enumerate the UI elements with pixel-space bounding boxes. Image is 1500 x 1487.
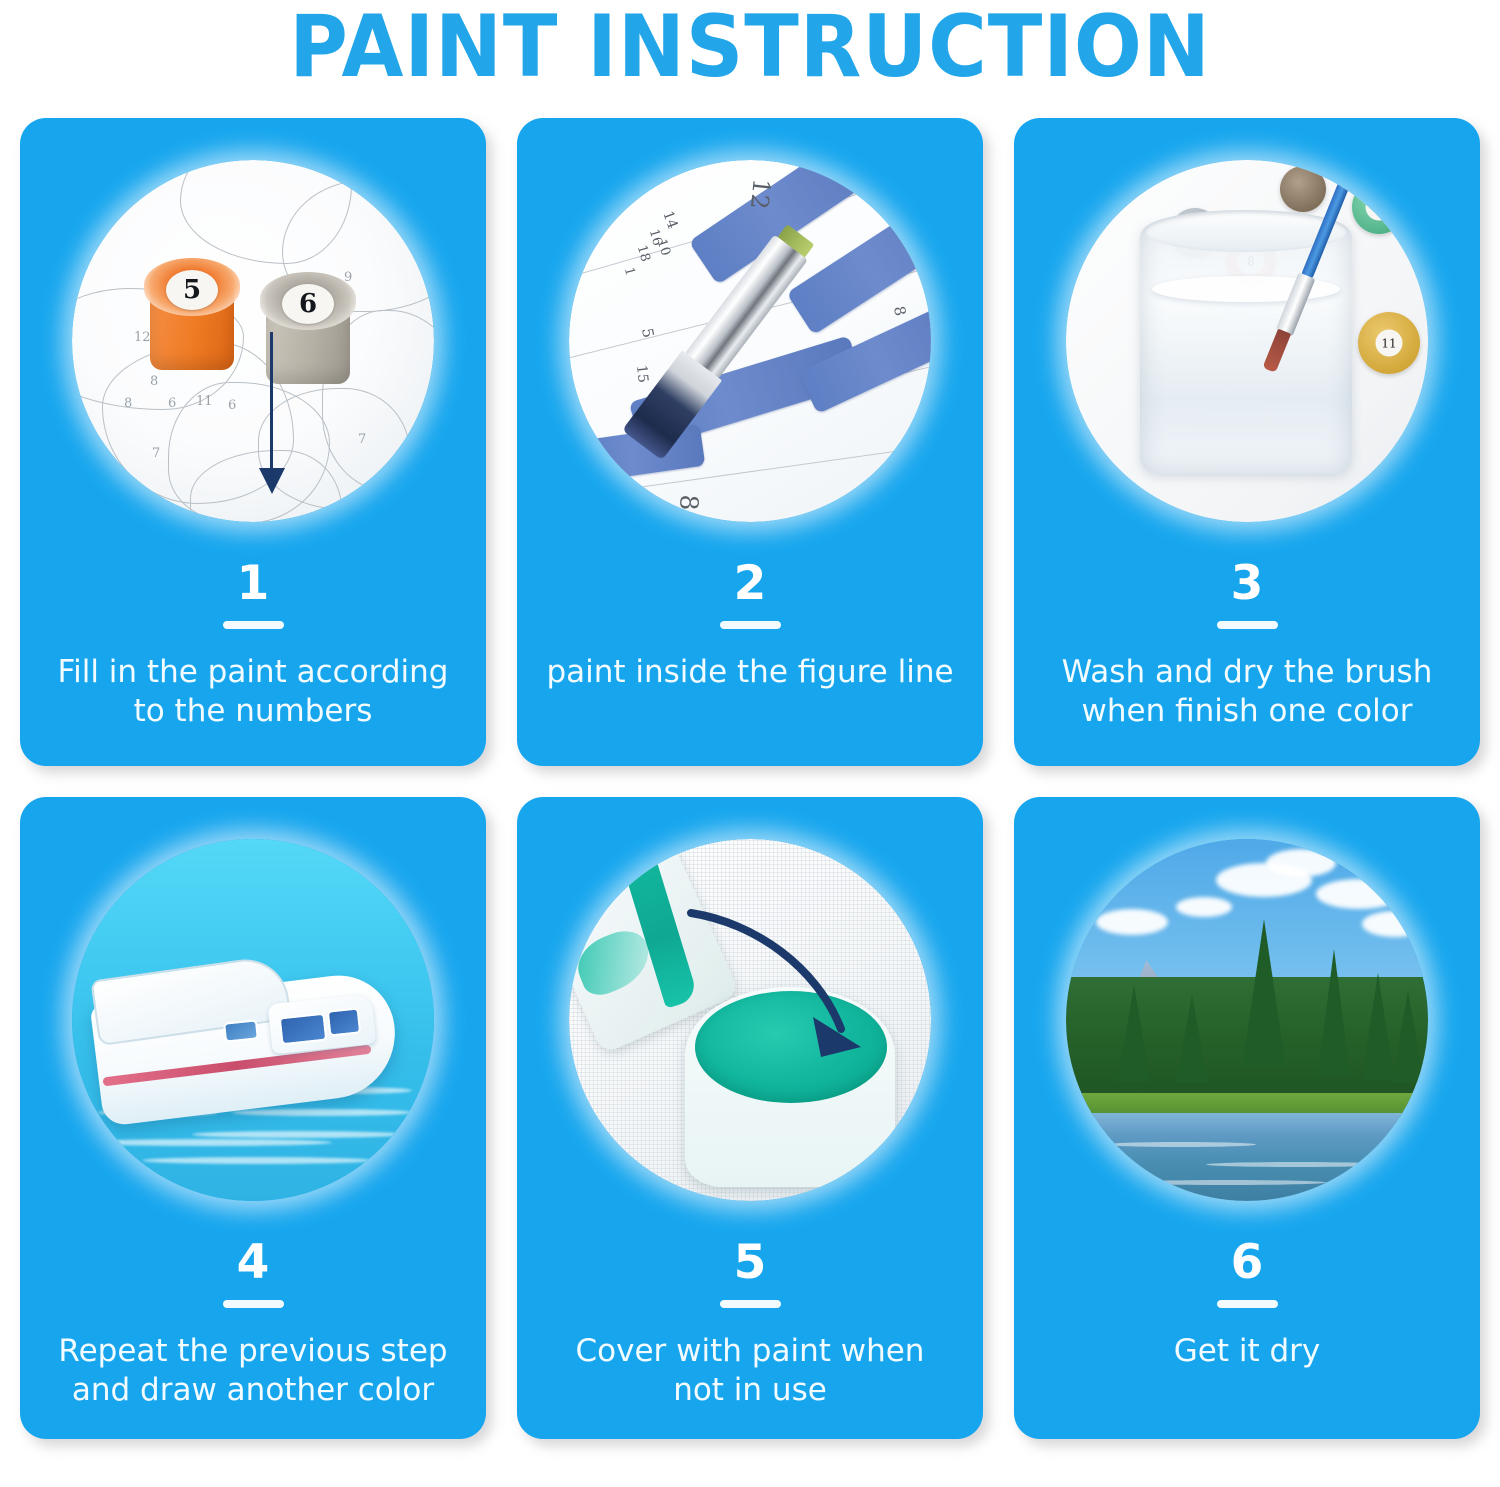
step-caption: paint inside the figure line: [530, 653, 969, 692]
step-2-photo: 12 14 16 18 10 5 8 15 1 8: [569, 160, 931, 522]
canvas-number: 7: [358, 432, 366, 447]
canvas-number: 15: [633, 364, 651, 383]
step-number: 3: [1231, 560, 1264, 607]
cloud: [1176, 897, 1232, 917]
water-reflection: [1126, 1180, 1326, 1185]
paint-pots-image: 12 8 8 8 11 6 6 7 9 7 5 6: [72, 160, 434, 522]
paint-pot: [1352, 180, 1406, 234]
step-caption: Fill in the paint according to the numbe…: [42, 653, 465, 731]
canvas-number: 8: [124, 396, 132, 411]
step-5-photo: [569, 839, 931, 1201]
step-caption: Get it dry: [1158, 1332, 1337, 1371]
canvas-number: 8: [150, 374, 158, 389]
mountain-landscape-image: [1066, 839, 1428, 1201]
step-number: 4: [237, 1239, 270, 1286]
step-3-photo: 7 8 11: [1066, 160, 1428, 522]
rinsing-brush-image: 7 8 11: [1066, 160, 1428, 522]
pine-tree: [1362, 973, 1394, 1079]
step-divider: [720, 621, 781, 629]
boat-window: [223, 1019, 259, 1042]
pine-tree: [1318, 949, 1350, 1075]
pot-number-label: 6: [282, 284, 334, 324]
step-card-1[interactable]: 12 8 8 8 11 6 6 7 9 7 5 6: [20, 118, 486, 766]
step-divider: [223, 621, 284, 629]
paint-pot-5: 5: [144, 258, 240, 370]
pine-tree: [1118, 985, 1150, 1081]
speedboat-painting-image: [72, 839, 434, 1201]
step-card-3[interactable]: 7 8 11 3 Wa: [1014, 118, 1480, 766]
pot-number-label: 5: [166, 270, 218, 310]
step-card-4[interactable]: 4 Repeat the previous step and draw anot…: [20, 797, 486, 1439]
paint-pot-6: 6: [260, 272, 356, 384]
water-reflection: [1106, 1142, 1256, 1147]
step-number: 5: [734, 1239, 767, 1286]
step-card-2[interactable]: 12 14 16 18 10 5 8 15 1 8 2 paint inside…: [517, 118, 983, 766]
down-arrow-icon: [270, 332, 273, 472]
step-card-6[interactable]: 6 Get it dry: [1014, 797, 1480, 1439]
step-6-photo: [1066, 839, 1428, 1201]
lake: [1066, 1113, 1428, 1201]
cloud: [1362, 911, 1428, 937]
step-caption: Wash and dry the brush when finish one c…: [1046, 653, 1449, 731]
pine-tree: [1242, 919, 1286, 1069]
canvas-number: 11: [196, 394, 213, 409]
cloud: [1096, 909, 1168, 935]
water-ripple: [82, 1139, 332, 1146]
step-4-photo: [72, 839, 434, 1201]
step-caption: Repeat the previous step and draw anothe…: [42, 1332, 463, 1410]
paint-pot: 11: [1358, 312, 1420, 374]
pine-tree: [1176, 995, 1208, 1083]
step-number: 2: [734, 560, 767, 607]
canvas-number: 8: [674, 494, 704, 511]
pot-number-label: [1366, 194, 1393, 221]
step-1-photo: 12 8 8 8 11 6 6 7 9 7 5 6: [72, 160, 434, 522]
pine-tree: [1392, 991, 1424, 1083]
water-ripple: [192, 1131, 402, 1138]
boat-window: [327, 1007, 362, 1036]
page-title: PAINT INSTRUCTION: [53, 0, 1448, 90]
paint-pot: [1280, 166, 1326, 212]
canvas-number: 12: [745, 177, 776, 210]
cloud: [1266, 849, 1336, 877]
step-number: 1: [237, 560, 270, 607]
step-caption: Cover with paint when not in use: [560, 1332, 941, 1410]
brush-painting-image: 12 14 16 18 10 5 8 15 1 8: [569, 160, 931, 522]
step-divider: [720, 1300, 781, 1308]
step-divider: [223, 1300, 284, 1308]
canvas-number: 6: [168, 396, 176, 411]
water-ripple: [142, 1157, 372, 1164]
cover-paint-image: [569, 839, 931, 1201]
step-card-5[interactable]: 5 Cover with paint when not in use: [517, 797, 983, 1439]
cloud: [1316, 879, 1402, 909]
canvas-number: 6: [228, 398, 236, 413]
canvas-number: 7: [152, 446, 160, 461]
pot-number-label: 11: [1376, 330, 1403, 357]
step-number: 6: [1231, 1239, 1264, 1286]
step-divider: [1217, 1300, 1278, 1308]
water-ripple: [232, 1109, 412, 1116]
instruction-steps-grid: 12 8 8 8 11 6 6 7 9 7 5 6: [20, 118, 1480, 1439]
boat-window: [279, 1013, 328, 1046]
water-reflection: [1206, 1162, 1386, 1167]
step-divider: [1217, 621, 1278, 629]
